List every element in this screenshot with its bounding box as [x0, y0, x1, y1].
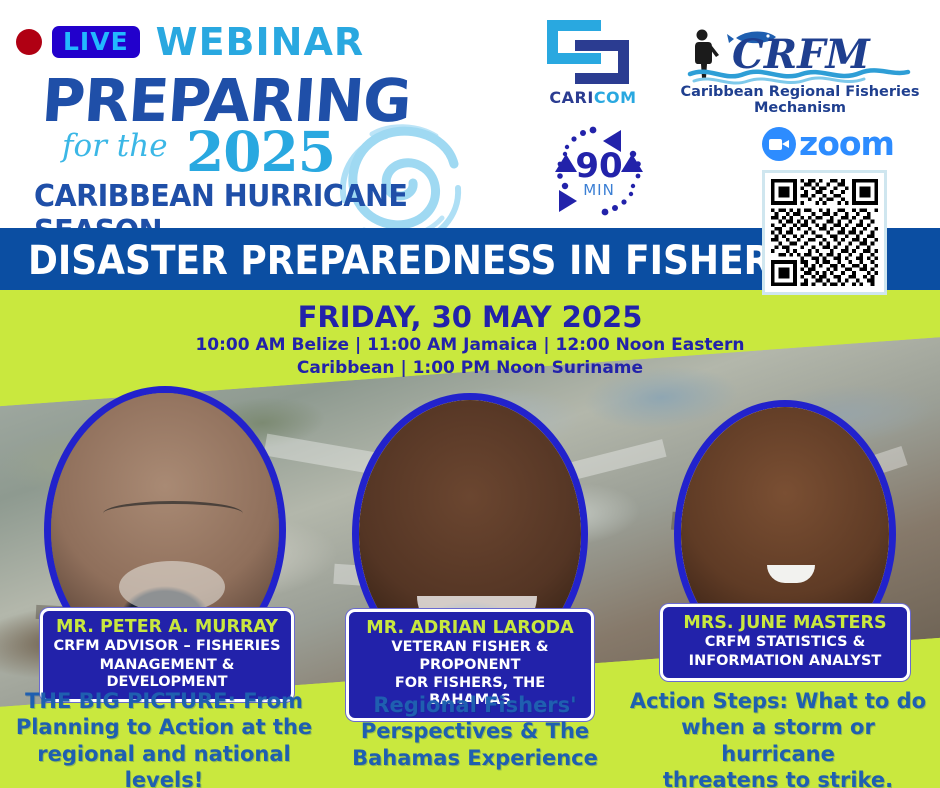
speaker-topic-1-line2: Planning to Action at the — [14, 714, 314, 740]
duration-unit: MIN — [545, 181, 653, 199]
speaker-role-2-line1: VETERAN FISHER & PROPONENT — [359, 639, 581, 674]
webinar-poster: LIVE WEBINAR PREPARING for the 2025 CARI… — [0, 0, 940, 788]
duration-number: 90 — [545, 146, 653, 186]
headline-for-the: for the — [62, 128, 168, 164]
eyeglasses-icon — [103, 501, 243, 526]
event-date: FRIDAY, 30 MAY 2025 — [0, 300, 940, 334]
caricom-mark-icon — [545, 20, 641, 86]
caricom-wordmark-part2: COM — [594, 88, 637, 107]
speaker-topic-1: THE BIG PICTURE: From Planning to Action… — [14, 688, 314, 788]
event-times-line1: 10:00 AM Belize | 11:00 AM Jamaica | 12:… — [0, 334, 940, 357]
live-webinar-row: LIVE WEBINAR — [16, 20, 364, 64]
speaker-topic-2-line3: Bahamas Experience — [338, 745, 612, 771]
speaker-role-1-line1: CRFM ADVISOR – FISHERIES — [53, 638, 281, 655]
crfm-mark-icon: CRFM — [680, 26, 920, 86]
speaker-card-1: MR. PETER A. MURRAY CRFM ADVISOR – FISHE… — [44, 386, 286, 674]
speaker-name-3: MRS. JUNE MASTERS — [673, 613, 897, 633]
zoom-wordmark: zoom — [799, 124, 894, 163]
speaker-name-2: MR. ADRIAN LARODA — [359, 618, 581, 638]
speaker-role-1-line2: MANAGEMENT & DEVELOPMENT — [53, 657, 281, 692]
speaker-topic-2-line2: Perspectives & The — [338, 718, 612, 744]
caricom-wordmark-part1: CARI — [549, 88, 593, 107]
caricom-logo: CARICOM — [545, 20, 641, 112]
caricom-wordmark: CARICOM — [545, 88, 641, 107]
qr-code-icon — [771, 179, 878, 286]
caricom-c-dark-icon — [575, 40, 629, 84]
record-dot-icon — [16, 29, 42, 55]
qr-code[interactable] — [762, 170, 887, 295]
speaker-card-2: MR. ADRIAN LARODA VETERAN FISHER & PROPO… — [352, 393, 588, 675]
headline-year: 2025 — [186, 119, 335, 184]
webinar-label: WEBINAR — [156, 20, 364, 64]
speaker-topic-2: Regional Fishers' Perspectives & The Bah… — [338, 692, 612, 771]
speaker-name-1: MR. PETER A. MURRAY — [53, 617, 281, 637]
speaker-topic-3: Action Steps: What to do when a storm or… — [628, 688, 928, 788]
speaker-topic-1-line3: regional and national levels! — [14, 741, 314, 788]
page-title: DISASTER PREPAREDNESS IN FISHERIES — [28, 238, 835, 284]
speaker-role-3-line2: INFORMATION ANALYST — [673, 653, 897, 670]
speaker-card-3: MRS. JUNE MASTERS CRFM STATISTICS & INFO… — [674, 400, 896, 668]
headline-block: PREPARING for the 2025 CARIBBEAN HURRICA… — [34, 66, 494, 221]
duration-badge: 90 MIN — [545, 118, 653, 224]
speaker-topic-3-line2: when a storm or hurricane — [628, 714, 928, 767]
event-times: 10:00 AM Belize | 11:00 AM Jamaica | 12:… — [0, 334, 940, 380]
live-badge: LIVE — [52, 26, 140, 58]
speaker-topic-1-line1: THE BIG PICTURE: From — [14, 688, 314, 714]
crfm-fullname-text: Caribbean Regional Fisheries Mechanism — [680, 84, 920, 116]
speaker-role-3-line1: CRFM STATISTICS & — [673, 634, 897, 651]
crfm-logo: CRFM Caribbean Regional Fisheries Mechan… — [680, 26, 920, 106]
speaker-topic-3-line1: Action Steps: What to do — [628, 688, 928, 714]
beard-shape — [119, 561, 225, 613]
zoom-camera-icon — [762, 127, 796, 161]
zoom-logo: zoom — [762, 124, 894, 163]
speaker-nameplate-3: MRS. JUNE MASTERS CRFM STATISTICS & INFO… — [660, 604, 910, 681]
event-times-line2: Caribbean | 1:00 PM Noon Suriname — [0, 357, 940, 380]
speaker-topic-2-line1: Regional Fishers' — [338, 692, 612, 718]
speaker-topic-3-line3: threatens to strike. — [628, 767, 928, 788]
